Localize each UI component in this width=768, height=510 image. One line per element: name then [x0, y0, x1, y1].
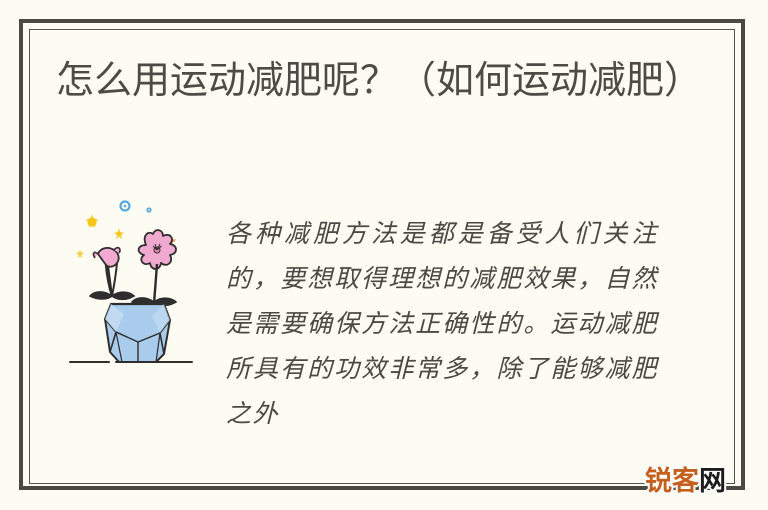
- flowers-in-vase-illustration: [64, 192, 204, 367]
- lily-left: [94, 248, 120, 296]
- watermark-primary-text: 锐客: [645, 466, 699, 497]
- article-body: 各种减肥方法是都是备受人们关注的，要想取得理想的减肥效果，自然是需要确保方法正确…: [226, 212, 658, 437]
- lily-right: [139, 230, 176, 304]
- vase: [105, 304, 170, 362]
- flowers-in-vase-icon: [64, 192, 204, 367]
- page-root: 怎么用运动减肥呢？（如何运动减肥）: [0, 0, 768, 510]
- watermark-secondary-text: 网: [699, 466, 726, 497]
- site-watermark: 锐客网: [645, 466, 726, 498]
- page-title: 怎么用运动减肥呢？（如何运动减肥）: [56, 54, 696, 108]
